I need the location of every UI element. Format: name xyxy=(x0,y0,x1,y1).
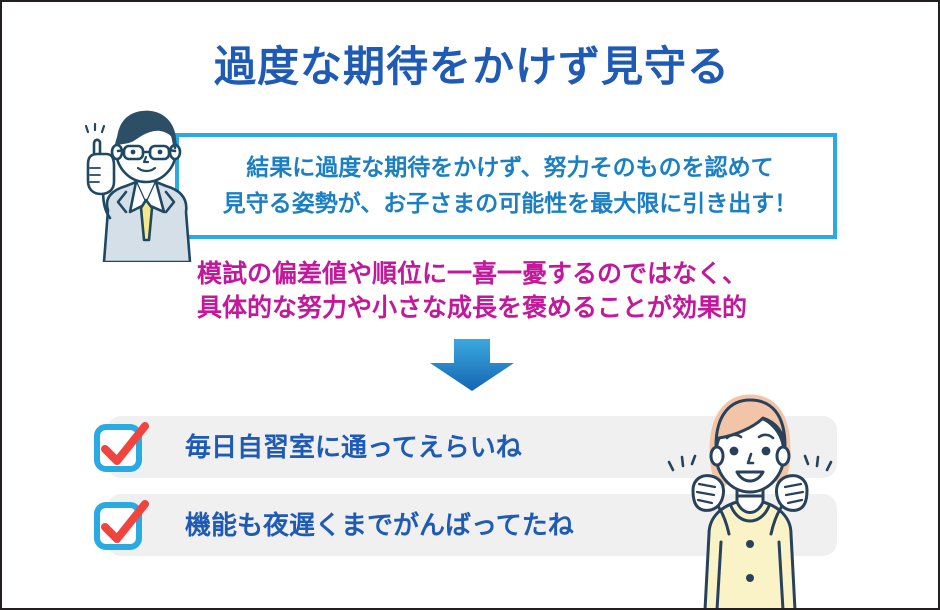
page-title: 過度な期待をかけず見守る xyxy=(2,44,940,90)
statement-box: 結果に過度な期待をかけず、努力そのものを認めて 見守る姿勢が、お子さまの可能性を… xyxy=(175,133,837,239)
student-cheering-illustration xyxy=(657,384,843,610)
emphasis-text: 模試の偏差値や順位に一喜一憂するのではなく、 具体的な努力や小さな成長を褒めるこ… xyxy=(2,258,940,326)
checklist-label: 機能も夜遅くまでがんばってたね xyxy=(185,494,574,556)
checkbox-checked-icon[interactable] xyxy=(87,491,155,559)
checklist-label: 毎日自習室に通ってえらいね xyxy=(185,416,522,478)
checkbox-checked-icon[interactable] xyxy=(87,413,155,481)
teacher-pointing-up-illustration xyxy=(74,100,214,262)
down-arrow-icon xyxy=(426,339,518,391)
statement-text: 結果に過度な期待をかけず、努力そのものを認めて 見守る姿勢が、お子さまの可能性を… xyxy=(179,150,841,221)
slide-canvas: 過度な期待をかけず見守る 結果に過度な期待をかけず、努力そのものを認めて 見守る… xyxy=(0,0,940,610)
